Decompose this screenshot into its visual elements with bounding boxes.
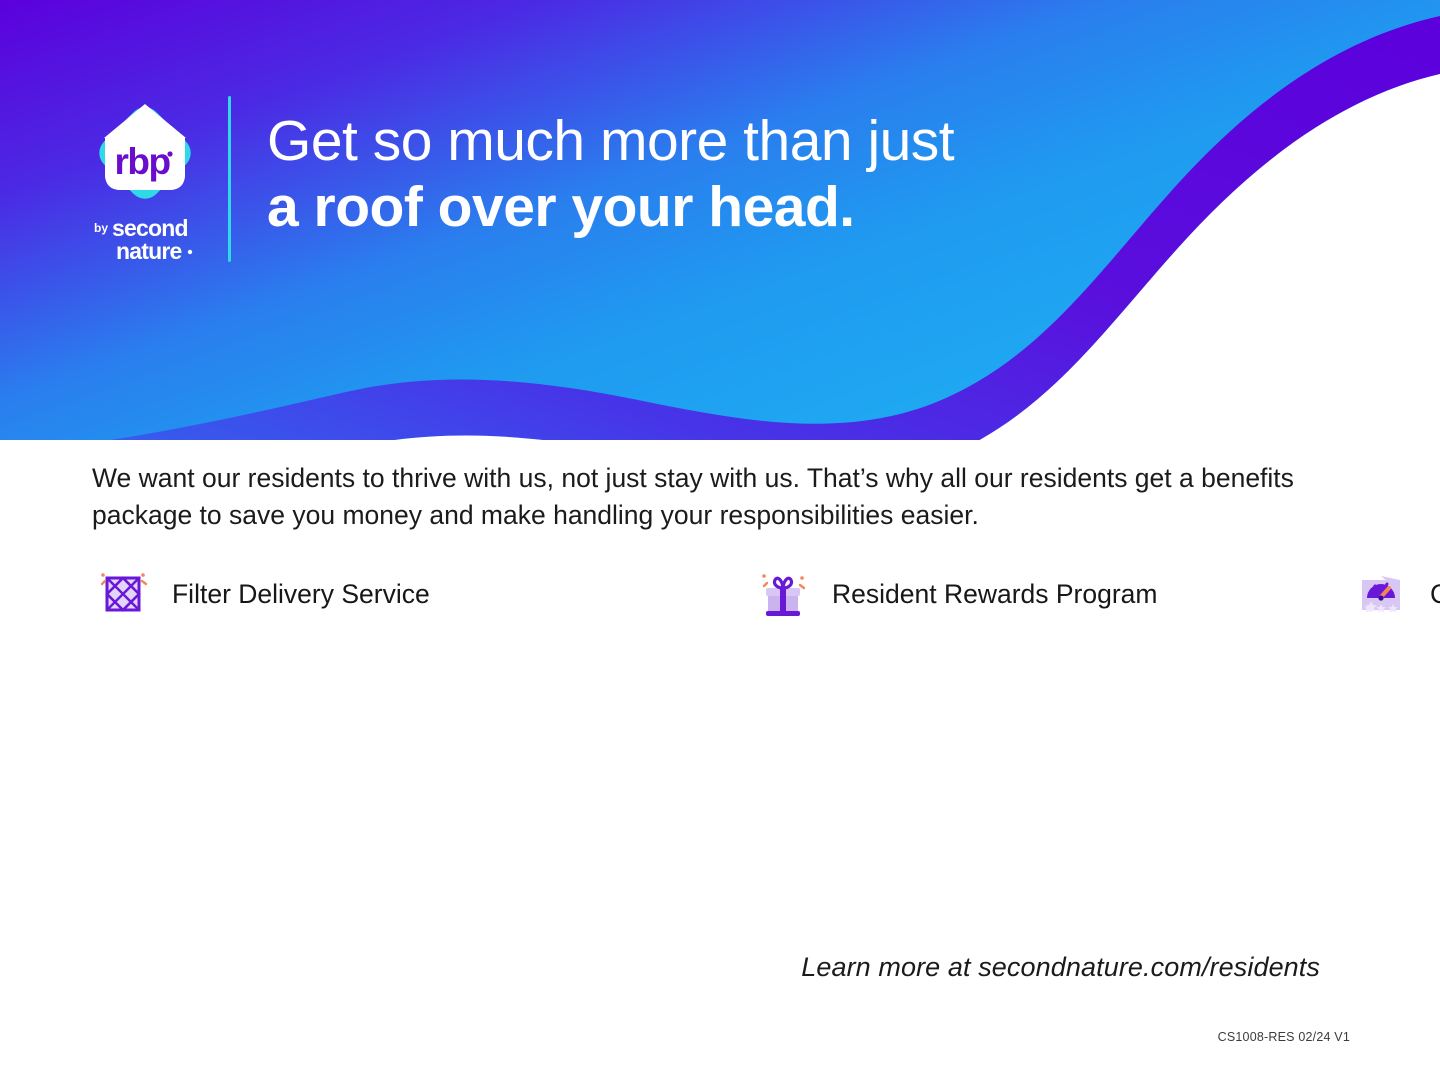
benefit-label: Resident Rewards Program: [832, 578, 1158, 610]
page-title: Get so much more than just a roof over y…: [267, 108, 954, 240]
benefit-item-filter-delivery-service: Filter Delivery Service: [92, 556, 752, 632]
rbp-logo-icon: rbp: [90, 100, 200, 208]
document-code: CS1008-RES 02/24 V1: [1218, 1030, 1350, 1044]
headline-line-1: Get so much more than just: [267, 108, 954, 174]
brand-logo: rbp by second nature: [86, 100, 204, 270]
air-filter-icon: [92, 563, 154, 625]
benefits-list: Filter Delivery Service Resident Rewards…: [92, 556, 1350, 632]
learn-more-text: Learn more at secondnature.com/residents: [801, 952, 1320, 983]
logo-divider: [228, 96, 231, 262]
benefit-label: Credit Building: [1430, 578, 1440, 610]
svg-text:by: by: [94, 221, 108, 235]
benefit-item-credit-building: Credit Building: [1350, 556, 1440, 632]
hero-banner: rbp by second nature Get so much more th…: [0, 0, 1440, 440]
benefit-label: Filter Delivery Service: [172, 578, 430, 610]
gift-box-icon: [752, 563, 814, 625]
intro-paragraph: We want our residents to thrive with us,…: [92, 460, 1307, 534]
benefit-item-resident-rewards-program: Resident Rewards Program: [752, 556, 1350, 632]
svg-text:rbp: rbp: [114, 141, 170, 182]
by-second-nature-logo: by second nature: [86, 214, 204, 270]
headline-line-2: a roof over your head.: [267, 174, 954, 240]
svg-text:nature: nature: [116, 238, 182, 264]
credit-gauge-icon: [1350, 563, 1412, 625]
